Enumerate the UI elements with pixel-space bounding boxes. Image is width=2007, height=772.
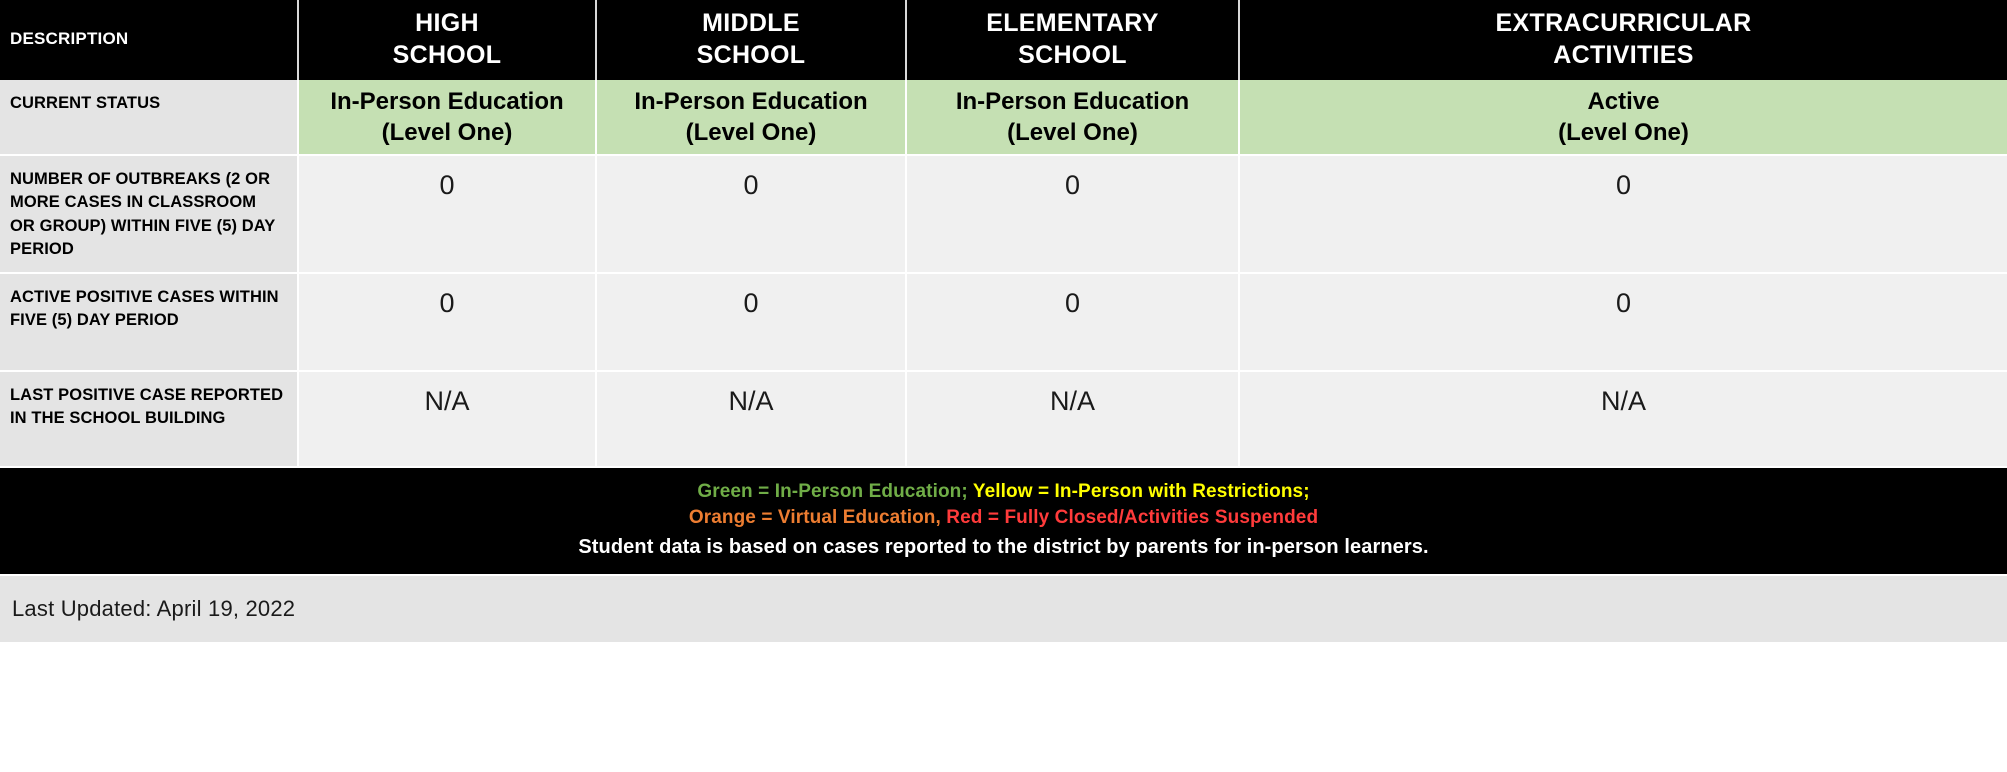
active-cases-value-high-school: 0 — [298, 273, 596, 371]
legend-orange-term: Orange — [689, 507, 756, 528]
outbreaks-value-middle-school: 0 — [596, 155, 906, 273]
status-cell-elementary-school-line1: In-Person Education — [913, 86, 1232, 117]
column-header-high-school: HIGH SCHOOL — [298, 0, 596, 79]
outbreaks-value-high-school: 0 — [298, 155, 596, 273]
column-header-middle-school-line2: SCHOOL — [603, 39, 899, 71]
legend-green-term: Green — [697, 481, 752, 502]
column-header-elementary-school-line1: ELEMENTARY — [913, 7, 1232, 39]
legend-red-text: = Fully Closed/Activities Suspended — [983, 507, 1319, 528]
status-cell-extracurricular: Active (Level One) — [1239, 79, 2007, 155]
column-header-high-school-line1: HIGH — [305, 7, 589, 39]
active-cases-value-elementary-school: 0 — [906, 273, 1239, 371]
column-header-description: DESCRIPTION — [0, 0, 298, 79]
last-updated-text: Last Updated: April 19, 2022 — [12, 596, 295, 622]
table-row-current-status: CURRENT STATUS In-Person Education (Leve… — [0, 79, 2007, 155]
column-header-extracurricular-line1: EXTRACURRICULAR — [1246, 7, 2001, 39]
column-header-elementary-school-line2: SCHOOL — [913, 39, 1232, 71]
outbreaks-value-extracurricular: 0 — [1239, 155, 2007, 273]
school-status-dashboard: DESCRIPTION HIGH SCHOOL MIDDLE SCHOOL EL… — [0, 0, 2007, 772]
status-cell-high-school-line1: In-Person Education — [305, 86, 589, 117]
legend-note: Student data is based on cases reported … — [0, 534, 2007, 560]
status-cell-elementary-school-line2: (Level One) — [913, 117, 1232, 148]
legend-red-term: Red — [946, 507, 982, 528]
table-header-row: DESCRIPTION HIGH SCHOOL MIDDLE SCHOOL EL… — [0, 0, 2007, 79]
legend-yellow-term: Yellow — [973, 481, 1033, 502]
row-label-last-positive-case: LAST POSITIVE CASE REPORTED IN THE SCHOO… — [0, 371, 298, 467]
table-row-last-positive-case: LAST POSITIVE CASE REPORTED IN THE SCHOO… — [0, 371, 2007, 467]
table-row-number-of-outbreaks: NUMBER OF OUTBREAKS (2 OR MORE CASES IN … — [0, 155, 2007, 273]
row-label-current-status: CURRENT STATUS — [0, 79, 298, 155]
status-cell-middle-school-line1: In-Person Education — [603, 86, 899, 117]
status-cell-extracurricular-line1: Active — [1246, 86, 2001, 117]
column-header-elementary-school: ELEMENTARY SCHOOL — [906, 0, 1239, 79]
last-case-value-elementary-school: N/A — [906, 371, 1239, 467]
column-header-middle-school: MIDDLE SCHOOL — [596, 0, 906, 79]
outbreaks-value-elementary-school: 0 — [906, 155, 1239, 273]
legend-green-text: = In-Person Education; — [753, 481, 968, 502]
footer-bar: Last Updated: April 19, 2022 — [0, 574, 2007, 642]
column-header-extracurricular-line2: ACTIVITIES — [1246, 39, 2001, 71]
legend-yellow-text: = In-Person with Restrictions; — [1033, 481, 1310, 502]
column-header-high-school-line2: SCHOOL — [305, 39, 589, 71]
status-cell-extracurricular-line2: (Level One) — [1246, 117, 2001, 148]
row-label-number-of-outbreaks: NUMBER OF OUTBREAKS (2 OR MORE CASES IN … — [0, 155, 298, 273]
column-header-middle-school-line1: MIDDLE — [603, 7, 899, 39]
legend-line-1: Green = In-Person Education; Yellow = In… — [0, 480, 2007, 505]
last-case-value-extracurricular: N/A — [1239, 371, 2007, 467]
legend-band: Green = In-Person Education; Yellow = In… — [0, 468, 2007, 574]
table-row-active-positive-cases: ACTIVE POSITIVE CASES WITHIN FIVE (5) DA… — [0, 273, 2007, 371]
legend-line-2: Orange = Virtual Education, Red = Fully … — [0, 506, 2007, 531]
status-cell-high-school: In-Person Education (Level One) — [298, 79, 596, 155]
status-cell-middle-school-line2: (Level One) — [603, 117, 899, 148]
row-label-active-positive-cases: ACTIVE POSITIVE CASES WITHIN FIVE (5) DA… — [0, 273, 298, 371]
last-case-value-high-school: N/A — [298, 371, 596, 467]
status-cell-middle-school: In-Person Education (Level One) — [596, 79, 906, 155]
last-case-value-middle-school: N/A — [596, 371, 906, 467]
status-cell-high-school-line2: (Level One) — [305, 117, 589, 148]
column-header-extracurricular-activities: EXTRACURRICULAR ACTIVITIES — [1239, 0, 2007, 79]
active-cases-value-extracurricular: 0 — [1239, 273, 2007, 371]
legend-orange-text: = Virtual Education, — [756, 507, 941, 528]
status-cell-elementary-school: In-Person Education (Level One) — [906, 79, 1239, 155]
active-cases-value-middle-school: 0 — [596, 273, 906, 371]
school-status-table: DESCRIPTION HIGH SCHOOL MIDDLE SCHOOL EL… — [0, 0, 2007, 468]
